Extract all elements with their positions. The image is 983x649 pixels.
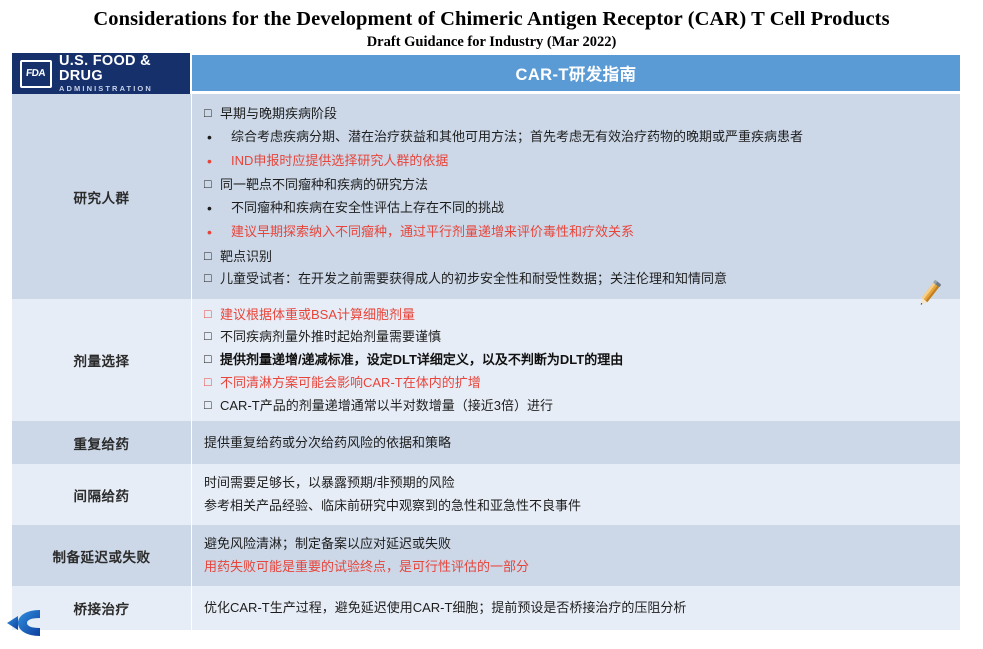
content-line-text: 不同疾病剂量外推时起始剂量需要谨慎 <box>220 327 950 347</box>
content-line-text: 优化CAR-T生产过程，避免延迟使用CAR-T细胞；提前预设是否桥接治疗的压阻分… <box>204 598 950 618</box>
content-line-text: 不同瘤种和疾病在安全性评估上存在不同的挑战 <box>231 198 950 218</box>
content-line-text: 参考相关产品经验、临床前研究中观察到的急性和亚急性不良事件 <box>204 496 950 516</box>
content-line-text: CAR-T产品的剂量递增通常以半对数增量（接近3倍）进行 <box>220 396 950 416</box>
table-row: 间隔给药时间需要足够长，以暴露预期/非预期的风险参考相关产品经验、临床前研究中观… <box>12 464 960 525</box>
content-line: •不同瘤种和疾病在安全性评估上存在不同的挑战 <box>204 197 950 221</box>
slide-content: FDA U.S. FOOD & DRUG ADMINISTRATION CAR-… <box>0 53 983 593</box>
fda-logo-line2: ADMINISTRATION <box>59 85 190 93</box>
content-line: □早期与晚期疾病阶段 <box>204 102 950 125</box>
content-line: 用药失败可能是重要的试验终点，是可行性评估的一部分 <box>204 556 950 579</box>
content-line: □CAR-T产品的剂量递增通常以半对数增量（接近3倍）进行 <box>204 394 950 417</box>
content-line-text: IND申报时应提供选择研究人群的依据 <box>231 151 950 171</box>
content-line-text: 建议早期探索纳入不同瘤种，通过平行剂量递增来评价毒性和疗效关系 <box>231 222 950 242</box>
bullet-dot-icon: • <box>204 222 231 243</box>
content-line: □同一靶点不同瘤种和疾病的研究方法 <box>204 174 950 197</box>
row-category-label: 剂量选择 <box>74 350 130 370</box>
row-content-cell: 提供重复给药或分次给药风险的依据和策略 <box>192 421 960 464</box>
content-line-text: 不同清淋方案可能会影响CAR-T在体内的扩增 <box>220 373 950 393</box>
content-line-text: 同一靶点不同瘤种和疾病的研究方法 <box>220 175 950 195</box>
pencil-icon <box>912 277 946 311</box>
bullet-dot-icon: • <box>204 127 231 148</box>
row-category-cell: 制备延迟或失败 <box>12 525 192 586</box>
page-subtitle: Draft Guidance for Industry (Mar 2022) <box>0 35 983 51</box>
table-row: 研究人群□早期与晚期疾病阶段•综合考虑疾病分期、潜在治疗获益和其他可用方法；首先… <box>12 94 960 299</box>
checkbox-square-icon: □ <box>204 373 220 392</box>
fda-emblem-label: FDA <box>26 68 46 79</box>
fda-logo-wordmark: U.S. FOOD & DRUG ADMINISTRATION <box>59 54 190 93</box>
table-row: 重复给药提供重复给药或分次给药风险的依据和策略 <box>12 421 960 464</box>
row-category-cell: 研究人群 <box>12 94 192 299</box>
checkbox-square-icon: □ <box>204 327 220 346</box>
content-line: 时间需要足够长，以暴露预期/非预期的风险 <box>204 472 950 495</box>
content-line-text: 避免风险清淋；制定备案以应对延迟或失败 <box>204 534 950 554</box>
checkbox-square-icon: □ <box>204 104 220 123</box>
content-line: •建议早期探索纳入不同瘤种，通过平行剂量递增来评价毒性和疗效关系 <box>204 221 950 245</box>
bullet-dot-icon: • <box>204 151 231 172</box>
row-category-cell: 间隔给药 <box>12 464 192 525</box>
content-line-text: 综合考虑疾病分期、潜在治疗获益和其他可用方法；首先考虑无有效治疗药物的晚期或严重… <box>231 127 950 147</box>
checkbox-square-icon: □ <box>204 269 220 288</box>
content-line-text: 提供剂量递增/递减标准，设定DLT详细定义，以及不判断为DLT的理由 <box>220 350 950 370</box>
checkbox-square-icon: □ <box>204 350 220 369</box>
content-line: 优化CAR-T生产过程，避免延迟使用CAR-T细胞；提前预设是否桥接治疗的压阻分… <box>204 597 950 620</box>
guidance-table: 研究人群□早期与晚期疾病阶段•综合考虑疾病分期、潜在治疗获益和其他可用方法；首先… <box>12 94 960 630</box>
content-line: •IND申报时应提供选择研究人群的依据 <box>204 149 950 173</box>
row-content-cell: □早期与晚期疾病阶段•综合考虑疾病分期、潜在治疗获益和其他可用方法；首先考虑无有… <box>192 94 960 299</box>
content-line-text: 靶点识别 <box>220 247 950 267</box>
bullet-dot-icon: • <box>204 198 231 219</box>
content-line-text: 建议根据体重或BSA计算细胞剂量 <box>220 305 950 325</box>
row-category-label: 研究人群 <box>74 187 130 207</box>
slide-title-block: Considerations for the Development of Ch… <box>0 0 983 51</box>
content-line-text: 时间需要足够长，以暴露预期/非预期的风险 <box>204 473 950 493</box>
table-header-bar: CAR-T研发指南 <box>192 55 960 91</box>
content-line: □不同清淋方案可能会影响CAR-T在体内的扩增 <box>204 371 950 394</box>
content-line: 避免风险清淋；制定备案以应对延迟或失败 <box>204 533 950 556</box>
row-content-cell: 避免风险清淋；制定备案以应对延迟或失败用药失败可能是重要的试验终点，是可行性评估… <box>192 525 960 586</box>
table-row: 制备延迟或失败避免风险清淋；制定备案以应对延迟或失败用药失败可能是重要的试验终点… <box>12 525 960 586</box>
table-header-title: CAR-T研发指南 <box>516 61 637 85</box>
content-line-text: 早期与晚期疾病阶段 <box>220 104 950 124</box>
watermark-logo <box>2 602 50 644</box>
content-line: 提供重复给药或分次给药风险的依据和策略 <box>204 431 950 454</box>
content-line-text: 用药失败可能是重要的试验终点，是可行性评估的一部分 <box>204 557 950 577</box>
content-line: □靶点识别 <box>204 245 950 268</box>
content-line: •综合考虑疾病分期、潜在治疗获益和其他可用方法；首先考虑无有效治疗药物的晚期或严… <box>204 125 950 149</box>
fda-logo: FDA U.S. FOOD & DRUG ADMINISTRATION <box>12 53 190 94</box>
row-category-label: 桥接治疗 <box>74 598 130 618</box>
content-line: 参考相关产品经验、临床前研究中观察到的急性和亚急性不良事件 <box>204 495 950 518</box>
content-line-text: 儿童受试者：在开发之前需要获得成人的初步安全性和耐受性数据；关注伦理和知情同意 <box>220 269 950 289</box>
checkbox-square-icon: □ <box>204 305 220 324</box>
content-line: □提供剂量递增/递减标准，设定DLT详细定义，以及不判断为DLT的理由 <box>204 349 950 372</box>
content-line: □建议根据体重或BSA计算细胞剂量 <box>204 303 950 326</box>
row-category-label: 间隔给药 <box>74 485 130 505</box>
fda-logo-line1: U.S. FOOD & DRUG <box>59 54 190 84</box>
row-content-cell: □建议根据体重或BSA计算细胞剂量□不同疾病剂量外推时起始剂量需要谨慎□提供剂量… <box>192 299 960 421</box>
checkbox-square-icon: □ <box>204 247 220 266</box>
row-category-cell: 剂量选择 <box>12 299 192 421</box>
checkbox-square-icon: □ <box>204 175 220 194</box>
page-title: Considerations for the Development of Ch… <box>0 8 983 32</box>
row-category-label: 制备延迟或失败 <box>53 546 151 566</box>
row-category-label: 重复给药 <box>74 433 130 453</box>
row-category-cell: 重复给药 <box>12 421 192 464</box>
fda-emblem-icon: FDA <box>20 60 52 88</box>
row-content-cell: 时间需要足够长，以暴露预期/非预期的风险参考相关产品经验、临床前研究中观察到的急… <box>192 464 960 525</box>
table-row: 剂量选择□建议根据体重或BSA计算细胞剂量□不同疾病剂量外推时起始剂量需要谨慎□… <box>12 299 960 421</box>
checkbox-square-icon: □ <box>204 396 220 415</box>
content-line: □儿童受试者：在开发之前需要获得成人的初步安全性和耐受性数据；关注伦理和知情同意 <box>204 268 950 291</box>
content-line: □不同疾病剂量外推时起始剂量需要谨慎 <box>204 326 950 349</box>
content-line-text: 提供重复给药或分次给药风险的依据和策略 <box>204 433 950 453</box>
